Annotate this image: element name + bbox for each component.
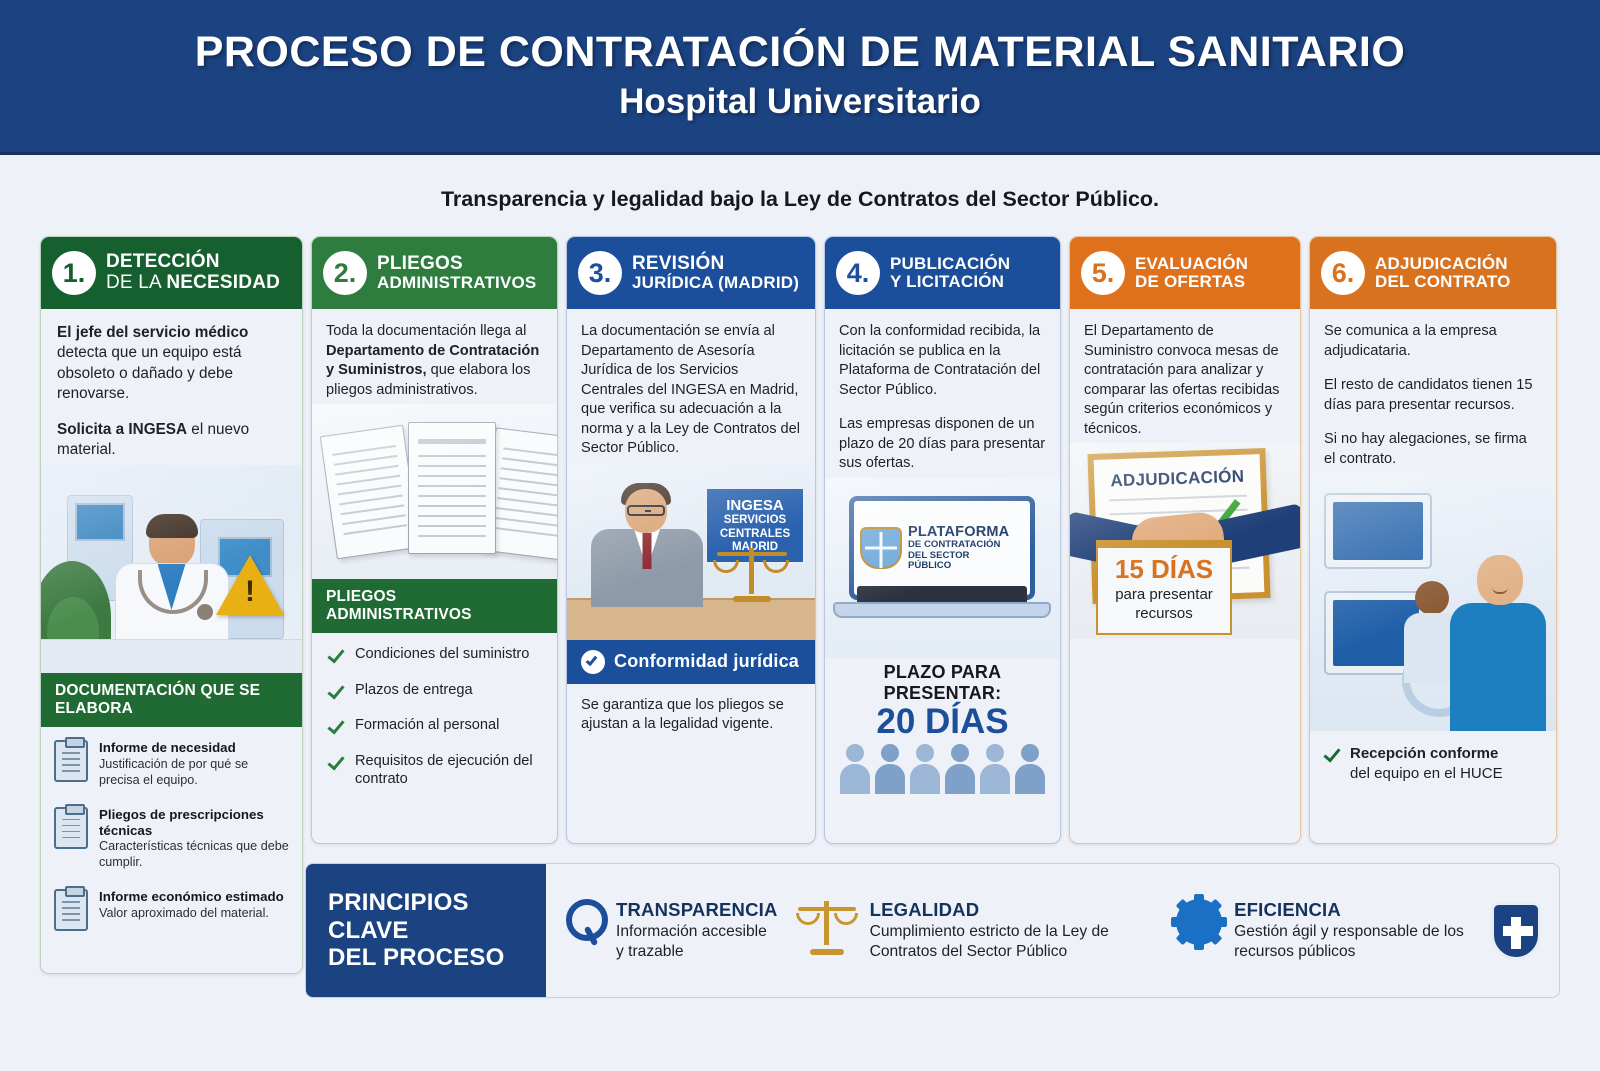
check-icon [327,717,344,735]
list-item: Pliegos de prescripciones técnicas Carac… [54,807,289,872]
step-2-title-line2: ADMINISTRATIVOS [377,274,536,292]
gear-icon [1176,899,1222,945]
lawyer-illustration: INGESA SERVICIOS CENTRALES MADRID [567,463,815,640]
step-6-footer-rest: del equipo en el HUCE [1350,765,1503,782]
step-3-footer: Se garantiza que los pliegos se ajustan … [567,684,815,739]
step-card-5: 5. EVALUACIÓN DE OFERTAS El Departamento… [1069,236,1301,844]
shield-cross-icon [1491,902,1541,960]
clipboard-icon [54,740,88,782]
step-5-title-line1: EVALUACIÓN [1135,255,1248,273]
laptop-illustration: PLATAFORMA DE CONTRATACIÓN DEL SECTOR PÚ… [825,478,1060,658]
step-2-checklist: Condiciones del suministro Plazos de ent… [312,633,557,806]
step-1-header: 1. DETECCIÓN DE LA NECESIDAD [41,237,302,309]
principle-desc: Información accesible y trazable [616,922,778,961]
step-3-band-label: Conformidad jurídica [614,651,799,672]
principles-title: PRINCIPIOS CLAVE DEL PROCESO [306,864,546,997]
step-6-footer: Recepción conforme del equipo en el HUCE [1310,731,1556,783]
step-2-band: PLIEGOS ADMINISTRATIVOS [312,579,557,633]
crowd-illustration [825,744,1060,794]
list-item: Informe de necesidad Justificación de po… [54,740,289,789]
step-1-p2-bold: Solicita a INGESA [57,421,187,438]
step-1-p1-rest: detecta que un equipo está obsoleto o da… [57,344,242,402]
document-title: Pliegos de prescripciones técnicas [99,807,289,839]
tagline: Transparencia y legalidad bajo la Ley de… [0,155,1600,236]
step-4-p2: Las empresas disponen de un plazo de 20 … [839,415,1046,474]
checklist-label: Condiciones del suministro [355,645,529,664]
step-6-title-line1: ADJUDICACIÓN [1375,255,1511,273]
step-3-band: Conformidad jurídica [567,640,815,684]
check-circle-icon [581,650,605,674]
checklist-label: Plazos de entrega [355,681,473,700]
step-2-pre: Toda la documentación llega al [326,323,526,339]
page-title: PROCESO DE CONTRATACIÓN DE MATERIAL SANI… [195,30,1406,75]
step-6-title-line2: DEL CONTRATO [1375,273,1511,291]
document-desc: Valor aproximado del material. [99,906,284,922]
principle-heading: LEGALIDAD [870,899,1159,921]
step-6-p1: Se comunica a la empresa adjudicataria. [1324,322,1542,361]
step-4-title-line2: Y LICITACIÓN [890,273,1010,291]
step-4-p1: Con la conformidad recibida, la licitaci… [839,322,1046,400]
principle-desc: Cumplimiento estricto de la Ley de Contr… [870,922,1159,961]
step-6-header: 6. ADJUDICACIÓN DEL CONTRATO [1310,237,1556,309]
step-3-title-line1: REVISIÓN [632,254,799,275]
step-6-footer-bold: Recepción conforme [1350,745,1498,762]
step-number-5: 5. [1081,251,1125,295]
step-card-3: 3. REVISIÓN JURÍDICA (MADRID) La documen… [566,236,816,844]
principle-legalidad: LEGALIDAD Cumplimiento estricto de la Le… [796,899,1159,961]
list-item: Requisitos de ejecución del contrato [328,752,541,789]
step-1-p1-bold: El jefe del servicio médico [57,324,248,341]
step-6-text: Se comunica a la empresa adjudicataria. … [1310,309,1556,473]
step-number-1: 1. [52,251,96,295]
step-4-text: Con la conformidad recibida, la licitaci… [825,309,1060,478]
principle-heading: EFICIENCIA [1234,899,1467,921]
step-2-header: 2. PLIEGOS ADMINISTRATIVOS [312,237,557,309]
step-6-p3: Si no hay alegaciones, se firma el contr… [1324,430,1542,469]
documents-illustration [312,404,557,579]
document-title: Informe de necesidad [99,740,289,756]
step-number-2: 2. [323,251,367,295]
step-3-header: 3. REVISIÓN JURÍDICA (MADRID) [567,237,815,309]
step-1-title-line2: DE LA NECESIDAD [106,273,280,294]
checklist-label: Formación al personal [355,716,499,735]
step-5-title-line2: DE OFERTAS [1135,273,1248,291]
step-card-1: 1. DETECCIÓN DE LA NECESIDAD El jefe del… [40,236,303,974]
check-icon [327,752,344,770]
step-card-4: 4. PUBLICACIÓN Y LICITACIÓN Con la confo… [824,236,1061,844]
step-1-band: DOCUMENTACIÓN QUE SE ELABORA [41,673,302,727]
principle-transparencia: TRANSPARENCIA Información accesible y tr… [564,899,778,961]
step-4-header: 4. PUBLICACIÓN Y LICITACIÓN [825,237,1060,309]
clipboard-icon [54,889,88,931]
nurse-illustration [1310,473,1556,731]
check-icon [327,646,344,664]
principles-title-line2: DEL PROCESO [328,944,546,972]
principle-eficiencia: EFICIENCIA Gestión ágil y responsable de… [1176,899,1467,961]
check-icon [327,681,344,699]
deadline-block: PLAZO PARA PRESENTAR: 20 DÍAS [825,658,1060,794]
page-header: PROCESO DE CONTRATACIÓN DE MATERIAL SANI… [0,0,1600,155]
principle-heading: TRANSPARENCIA [616,899,778,921]
step-5-paragraph: El Departamento de Suministro convoca me… [1084,322,1286,439]
doctor-illustration [41,465,302,673]
step-1-title-line1: DETECCIÓN [106,252,280,273]
step-1-title-thin: DE LA [106,272,166,293]
step-card-6: 6. ADJUDICACIÓN DEL CONTRATO Se comunica… [1309,236,1557,844]
step-card-2: 2. PLIEGOS ADMINISTRATIVOS Toda la docum… [311,236,558,844]
step-2-title-line1: PLIEGOS [377,254,536,275]
magnifier-icon [564,899,604,947]
key-principles-strip: PRINCIPIOS CLAVE DEL PROCESO TRANSPARENC… [305,863,1560,998]
step-number-6: 6. [1321,251,1365,295]
principle-desc: Gestión ágil y responsable de los recurs… [1234,922,1467,961]
documents-list: Informe de necesidad Justificación de po… [41,727,302,949]
step-6-p2: El resto de candidatos tienen 15 días pa… [1324,376,1542,415]
step-3-paragraph: La documentación se envía al Departament… [581,322,801,459]
deadline-value: 20 DÍAS [825,702,1060,742]
list-item: Informe económico estimado Valor aproxim… [54,889,289,931]
document-title: Informe económico estimado [99,889,284,905]
list-item: Formación al personal [328,716,541,735]
step-1-text: El jefe del servicio médico detecta que … [41,309,302,465]
step-1-title-bold: NECESIDAD [166,272,280,293]
step-5-header: 5. EVALUACIÓN DE OFERTAS [1070,237,1300,309]
page-subtitle: Hospital Universitario [619,82,981,122]
step-2-text: Toda la documentación llega al Departame… [312,309,557,404]
step-number-3: 3. [578,251,622,295]
step-3-text: La documentación se envía al Departament… [567,309,815,463]
document-desc: Justificación de por qué se precisa el e… [99,757,289,789]
step-3-title-line2: JURÍDICA (MADRID) [632,274,799,292]
clipboard-icon [54,807,88,849]
process-steps: 1. DETECCIÓN DE LA NECESIDAD El jefe del… [0,236,1600,854]
checklist-label: Requisitos de ejecución del contrato [355,752,541,789]
document-desc: Características técnicas que debe cumpli… [99,839,289,871]
check-icon [1323,745,1340,763]
step-4-title-line1: PUBLICACIÓN [890,255,1010,273]
list-item: Plazos de entrega [328,681,541,700]
list-item: Condiciones del suministro [328,645,541,664]
step-number-4: 4. [836,251,880,295]
scales-icon [796,899,858,955]
principles-title-line1: PRINCIPIOS CLAVE [328,889,546,945]
handshake-illustration: ADJUDICACIÓN 15 DÍAS para presentar recu… [1070,443,1300,639]
deadline-label: PLAZO PARA PRESENTAR: [825,662,1060,704]
step-5-text: El Departamento de Suministro convoca me… [1070,309,1300,443]
